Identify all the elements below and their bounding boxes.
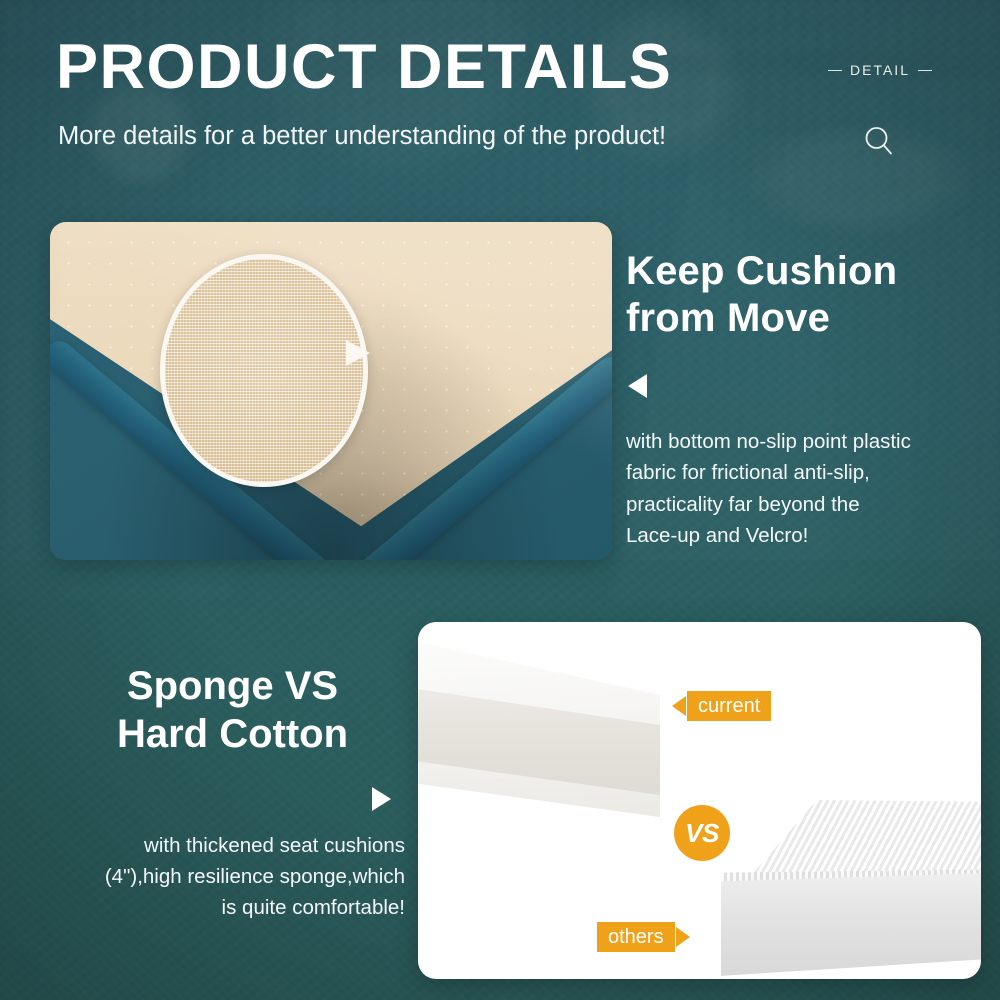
section-2-heading-line1: Sponge VS — [60, 662, 405, 710]
magnifier-pointer-icon — [346, 340, 370, 366]
tag-current-label: current — [687, 691, 771, 721]
tag-others: others — [597, 922, 690, 952]
section-2-heading-line2: Hard Cotton — [60, 710, 405, 758]
section-1-body-line4: Lace-up and Velcro! — [626, 520, 988, 551]
search-icon — [862, 124, 896, 158]
cushion-bottom-antislip-photo — [50, 222, 612, 560]
detail-label: DETAIL — [850, 62, 910, 78]
detail-label-group: DETAIL — [828, 62, 932, 78]
section-1-heading-line1: Keep Cushion — [626, 248, 982, 295]
hard-cotton-slab-side — [721, 872, 981, 979]
section-1-body-line2: fabric for frictional anti-slip, — [626, 457, 988, 488]
header: PRODUCT DETAILS More details for a bette… — [0, 0, 1000, 210]
triangle-left-icon — [628, 374, 647, 398]
dash-right-icon — [918, 70, 932, 71]
tag-others-label: others — [597, 922, 675, 952]
arrow-right-icon — [676, 927, 690, 947]
tag-current: current — [672, 691, 771, 721]
section-1-heading-group: Keep Cushion from Move — [626, 248, 982, 342]
section-2-heading-group: Sponge VS Hard Cotton — [60, 662, 405, 758]
vs-badge: VS — [674, 805, 730, 861]
section-2-body-line3: is quite comfortable! — [30, 893, 405, 924]
section-2-body-line1: with thickened seat cushions — [30, 831, 405, 862]
section-1-body: with bottom no-slip point plastic fabric… — [626, 426, 988, 551]
magnifier-callout-circle — [160, 254, 368, 487]
product-details-infographic: PRODUCT DETAILS More details for a bette… — [0, 0, 1000, 1000]
section-2-body: with thickened seat cushions (4"),high r… — [30, 831, 405, 923]
triangle-right-icon — [372, 787, 391, 811]
arrow-left-icon — [672, 696, 686, 716]
section-1-body-line1: with bottom no-slip point plastic — [626, 426, 988, 457]
sponge-vs-hard-cotton-photo — [418, 622, 981, 979]
page-title: PRODUCT DETAILS — [56, 36, 672, 99]
section-1-body-line3: practicality far beyond the — [626, 489, 988, 520]
section-1-heading-line2: from Move — [626, 295, 982, 342]
page-subtitle: More details for a better understanding … — [58, 122, 666, 151]
section-2-body-line2: (4"),high resilience sponge,which — [30, 862, 405, 893]
dash-left-icon — [828, 70, 842, 71]
